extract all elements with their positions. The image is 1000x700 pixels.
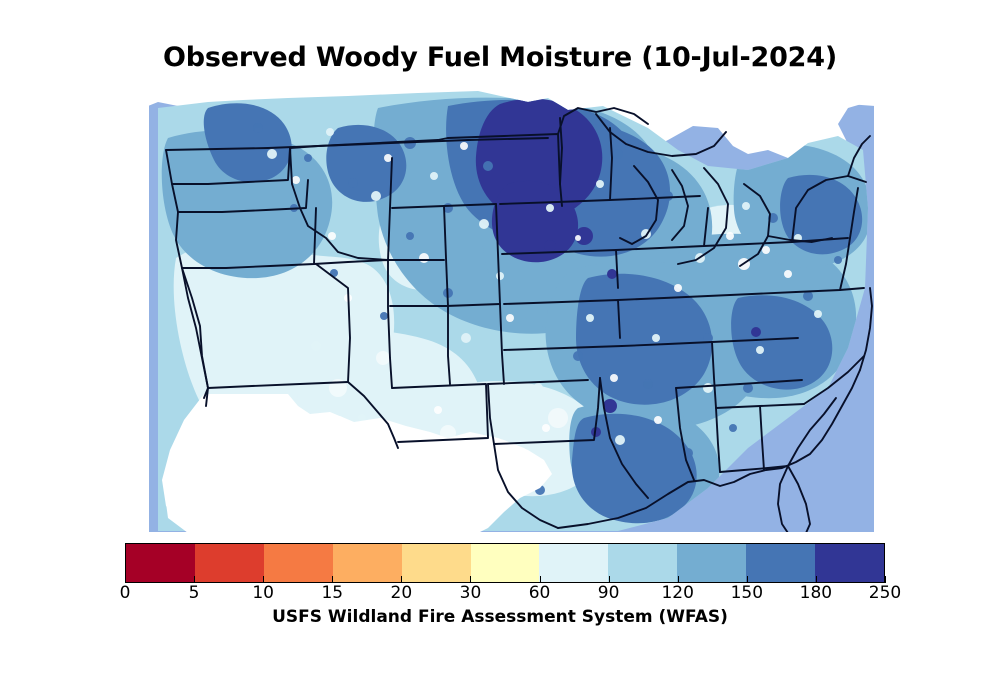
colorbar-tickmark <box>194 576 195 583</box>
colorbar-tick-5: 5 <box>159 583 229 603</box>
colorbar-band-30-60 <box>471 544 540 582</box>
colorbar-tick-20: 20 <box>366 583 436 603</box>
colorbar[interactable] <box>125 543 885 583</box>
colorbar-band-20-30 <box>402 544 471 582</box>
fuel-moisture-map[interactable] <box>148 88 875 533</box>
page-title: Observed Woody Fuel Moisture (10-Jul-202… <box>0 42 1000 73</box>
colorbar-tickmark <box>332 576 333 583</box>
colorbar-tickmark <box>263 576 264 583</box>
figure-canvas: Observed Woody Fuel Moisture (10-Jul-202… <box>0 0 1000 700</box>
colorbar-band-120-150 <box>677 544 746 582</box>
colorbar-tickmark <box>609 576 610 583</box>
colorbar-band-0-5 <box>126 544 195 582</box>
figure-caption: USFS Wildland Fire Assessment System (WF… <box>0 607 1000 627</box>
colorbar-band-60-90 <box>539 544 608 582</box>
colorbar-tick-150: 150 <box>712 583 782 603</box>
colorbar-band-90-120 <box>608 544 677 582</box>
colorbar-band-15-20 <box>333 544 402 582</box>
colorbar-band-150-180 <box>746 544 815 582</box>
colorbar-tickmark <box>678 576 679 583</box>
colorbar-tick-60: 60 <box>505 583 575 603</box>
colorbar-tick-30: 30 <box>435 583 505 603</box>
colorbar-tickmark <box>125 576 126 583</box>
colorbar-tickmark <box>816 576 817 583</box>
colorbar-tick-250: 250 <box>850 583 920 603</box>
colorbar-band-10-15 <box>264 544 333 582</box>
colorbar-tick-labels: 05101520306090120150180250 <box>125 583 885 605</box>
colorbar-tick-120: 120 <box>643 583 713 603</box>
colorbar-tickmark <box>470 576 471 583</box>
colorbar-tickmark <box>401 576 402 583</box>
colorbar-tickmark <box>885 576 886 583</box>
colorbar-band-5-10 <box>195 544 264 582</box>
colorbar-tickmark <box>747 576 748 583</box>
colorbar-tick-0: 0 <box>90 583 160 603</box>
colorbar-band-180-250 <box>815 544 884 582</box>
colorbar-bands[interactable] <box>125 543 885 583</box>
colorbar-tickmark <box>540 576 541 583</box>
colorbar-tick-10: 10 <box>228 583 298 603</box>
colorbar-tick-15: 15 <box>297 583 367 603</box>
map-panel[interactable] <box>148 88 875 533</box>
colorbar-tick-90: 90 <box>574 583 644 603</box>
colorbar-tick-180: 180 <box>781 583 851 603</box>
